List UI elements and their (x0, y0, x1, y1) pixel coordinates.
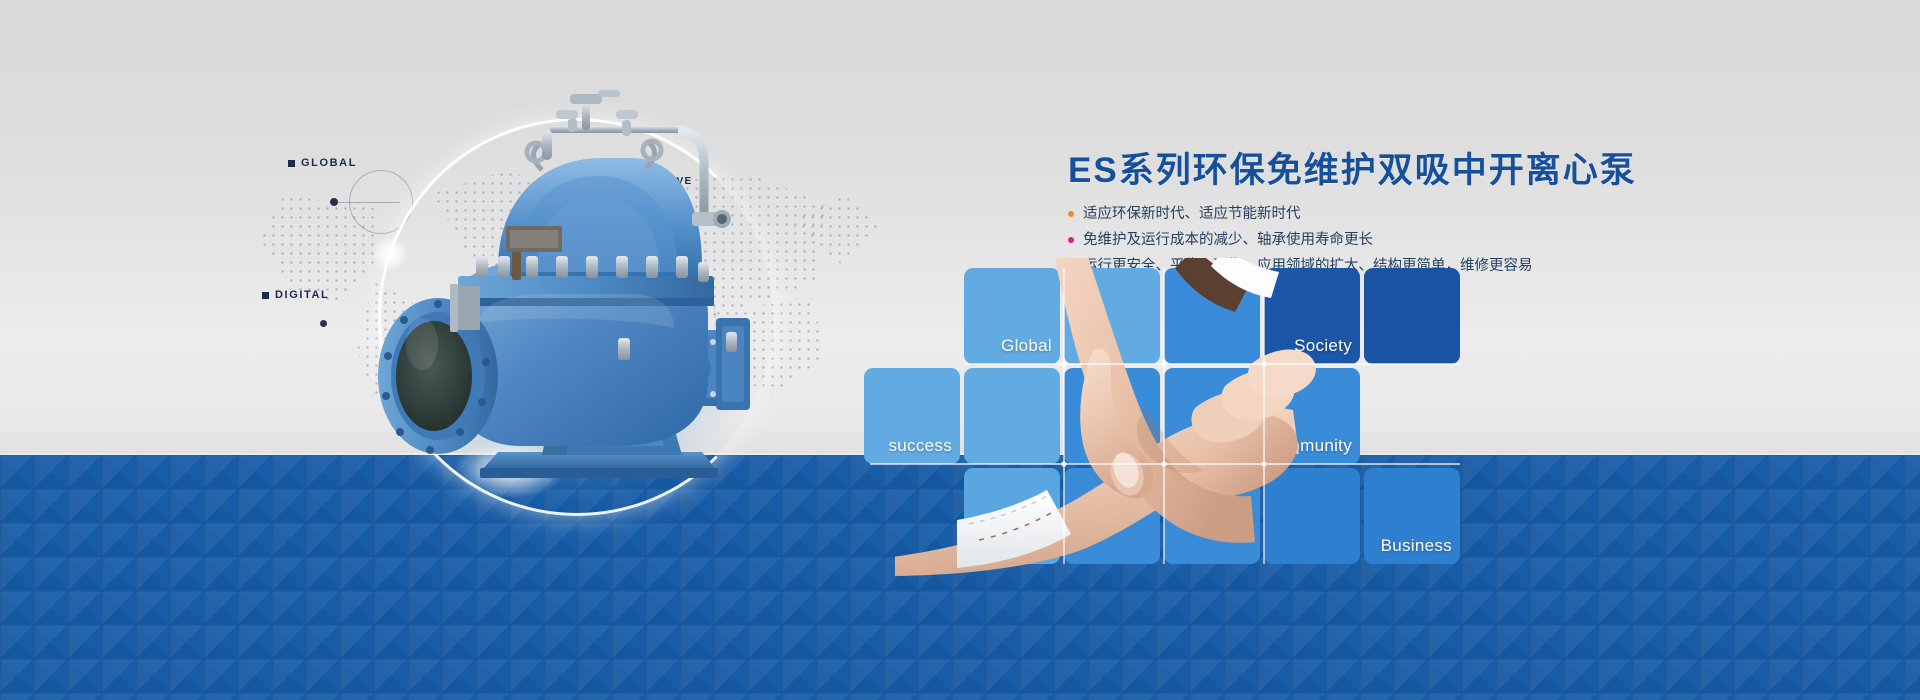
bullet-text: 免维护及运行成本的减少、轴承使用寿命更长 (1083, 229, 1373, 251)
promo-banner: GLOBAL DIGITAL CREATIVE DREAM (0, 0, 1920, 700)
tile-label: Business (1381, 536, 1452, 556)
tile-label: Community (1263, 436, 1352, 456)
tile-label: Promise (988, 536, 1052, 556)
tile-community: Community (1264, 368, 1360, 464)
page-title: ES系列环保免维护双吸中开离心泵 (1068, 142, 1637, 193)
tile-society: Society (1264, 268, 1360, 364)
tile-blank-r2c4 (1264, 468, 1360, 564)
tile-promise: Promise (964, 468, 1060, 564)
tile-blank-r0c5 (1364, 268, 1460, 364)
bullet-text: 适应环保新时代、适应节能新时代 (1083, 203, 1301, 225)
pump-illustration (330, 80, 760, 500)
square-marker-icon (262, 292, 269, 299)
tile-blank-r1c3 (1164, 368, 1260, 464)
tile-blank-r2c3 (1164, 468, 1260, 564)
tile-mosaic: Global Society success Community Promise… (870, 268, 1570, 568)
list-item: 适应环保新时代、适应节能新时代 (1068, 203, 1688, 225)
map-label-digital: DIGITAL (262, 289, 329, 301)
list-item: 免维护及运行成本的减少、轴承使用寿命更长 (1068, 229, 1688, 251)
tile-label: success (888, 436, 952, 456)
bullet-dot-icon (1068, 211, 1074, 217)
square-marker-icon (288, 160, 295, 167)
map-label-text: DIGITAL (275, 289, 329, 301)
tile-blank-r1c2 (1064, 368, 1160, 464)
map-node-dot (320, 320, 327, 327)
tile-label: Society (1294, 336, 1352, 356)
tile-blank-r0c3 (1164, 268, 1260, 364)
tile-business: Business (1364, 468, 1460, 564)
tile-label: Global (1001, 336, 1052, 356)
tile-global: Global (964, 268, 1060, 364)
tile-success: success (864, 368, 960, 464)
tile-blank-r1c1 (964, 368, 1060, 464)
bullet-dot-icon (1068, 237, 1074, 243)
tile-blank-r0c2 (1064, 268, 1160, 364)
tile-blank-r2c2 (1064, 468, 1160, 564)
